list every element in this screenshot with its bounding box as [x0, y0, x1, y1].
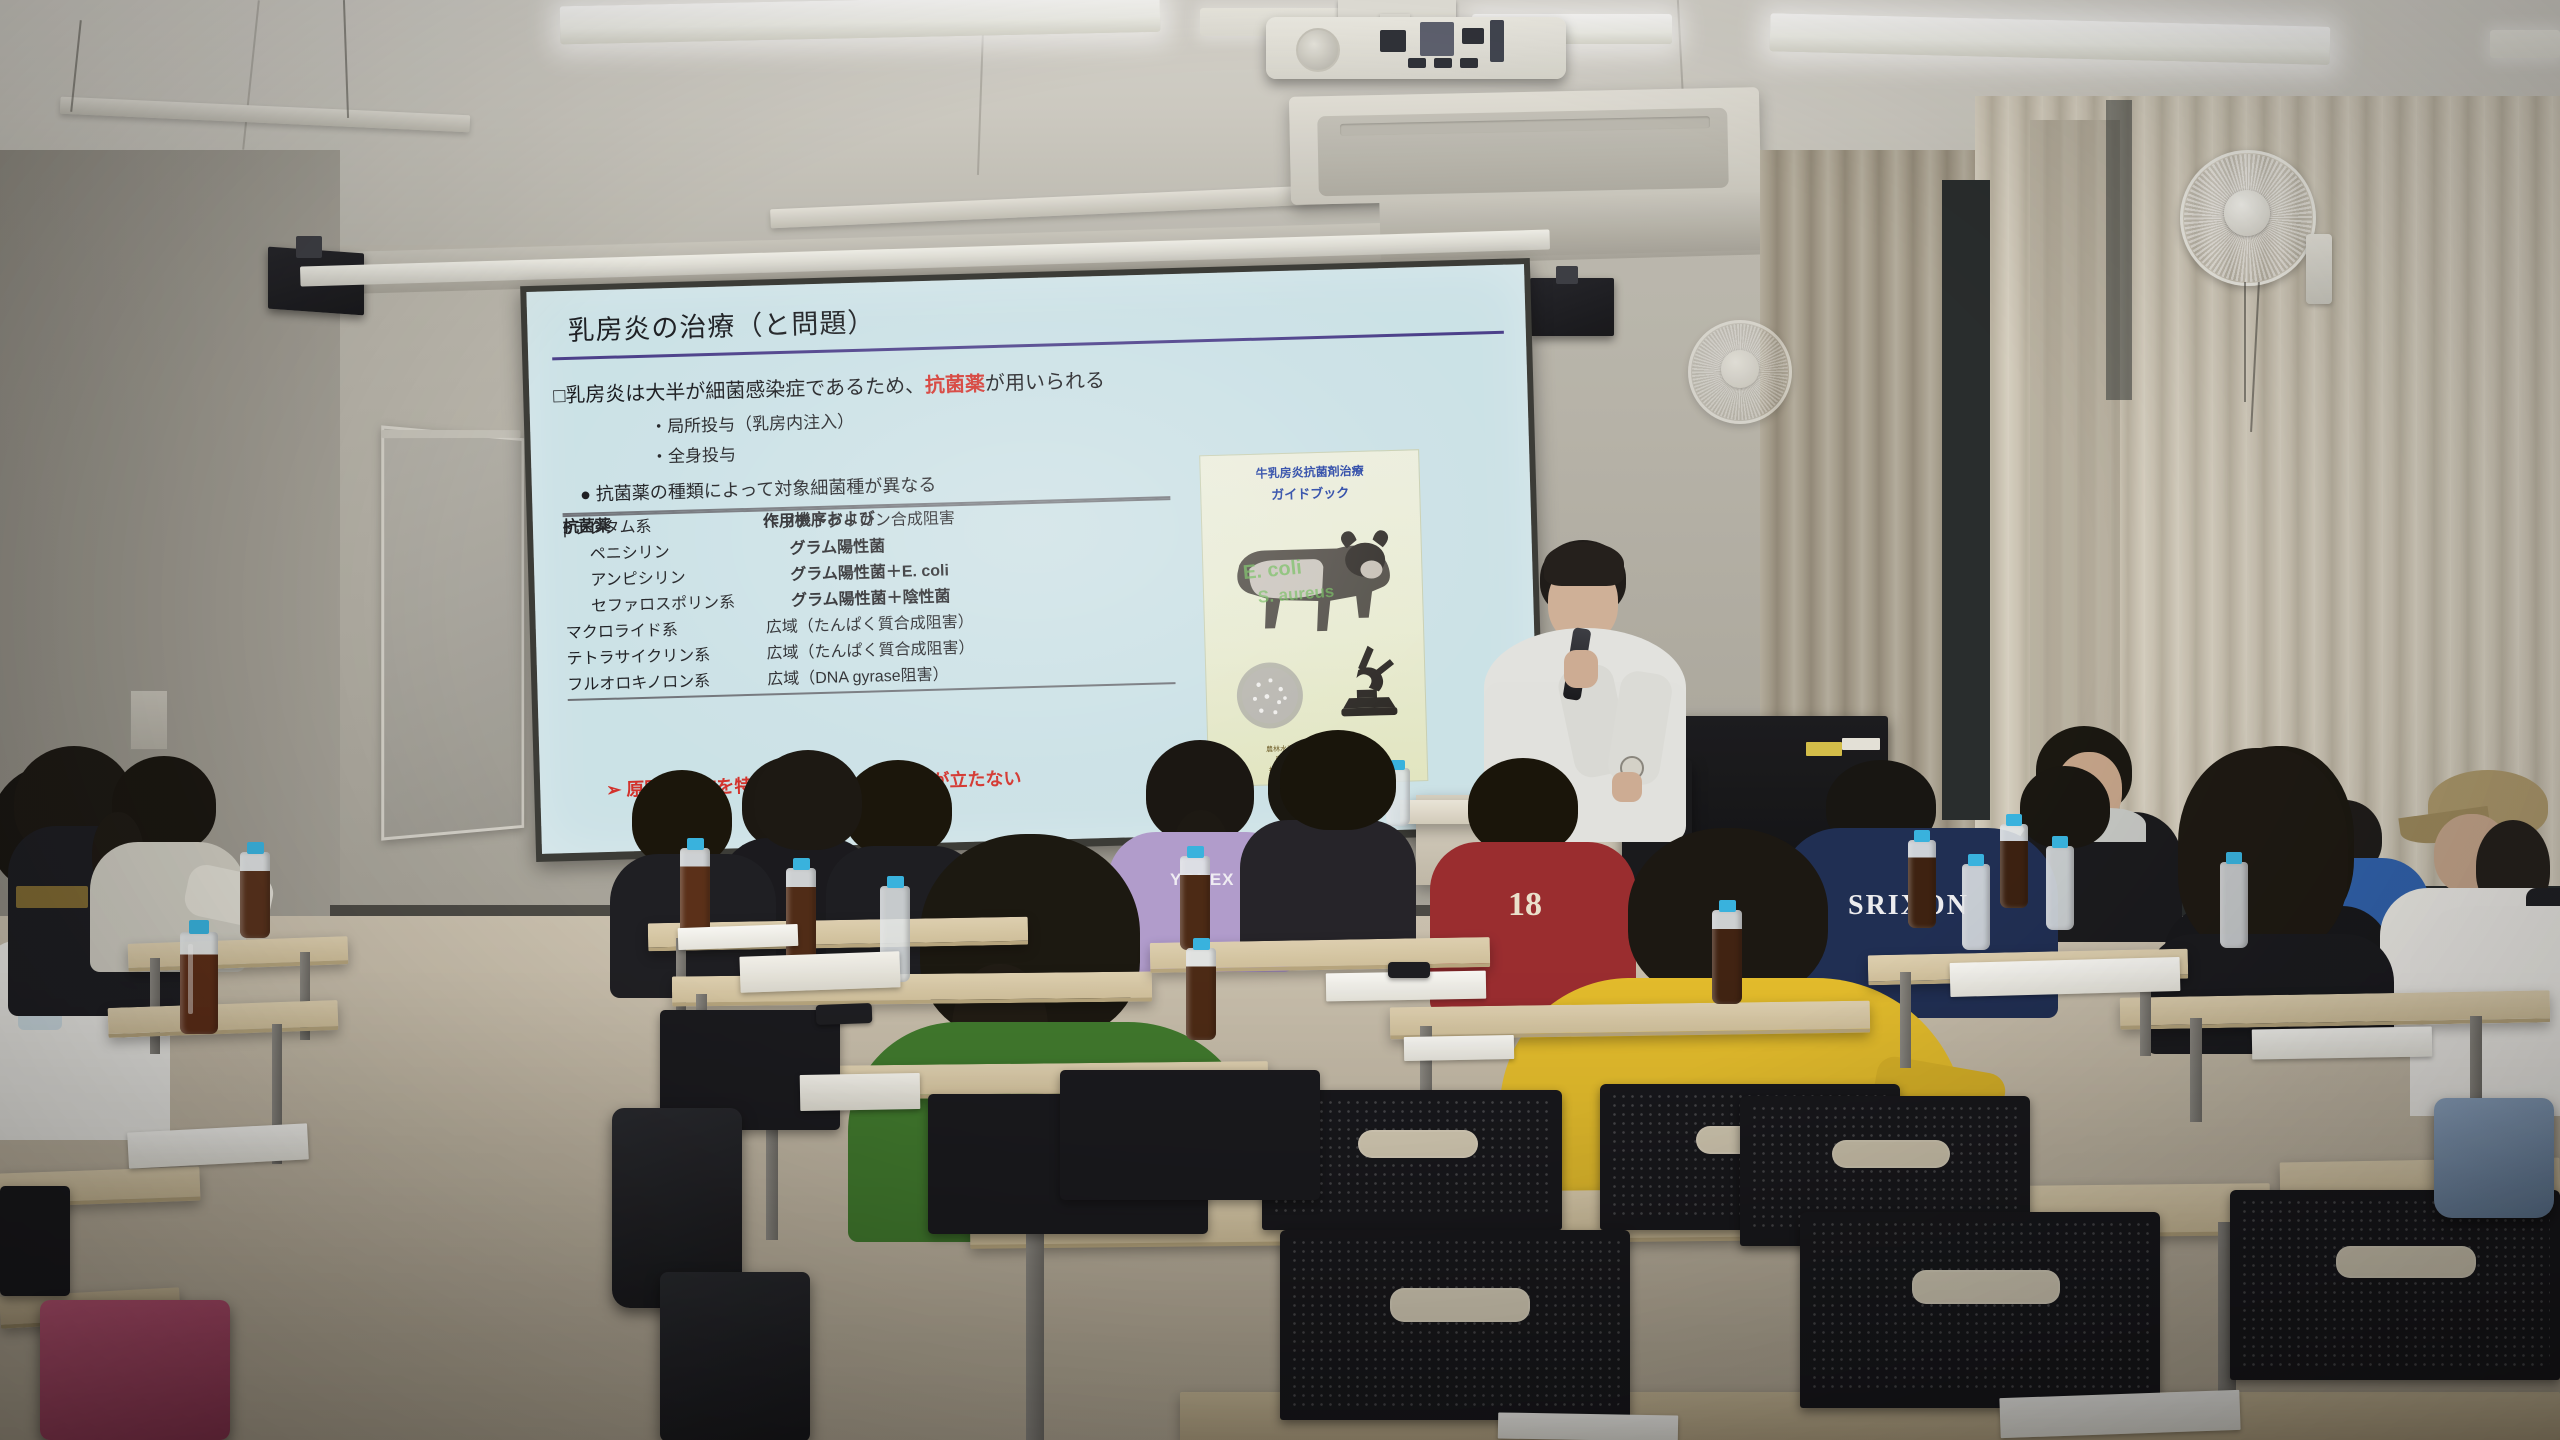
chair[interactable]	[1800, 1212, 2160, 1408]
projector-cable	[1490, 20, 1504, 62]
projector-port	[1420, 22, 1454, 56]
projector-lens	[1296, 28, 1340, 72]
bottle-body	[180, 932, 218, 1034]
microscope-svg	[1329, 641, 1406, 735]
fan-hub	[2224, 190, 2270, 236]
slide-subbullet-1: ・局所投与（乳房内注入）	[650, 407, 855, 438]
lecturer-hand	[1564, 650, 1598, 688]
bottle-cap	[793, 858, 810, 870]
bottle-cap	[189, 920, 209, 934]
tote-bag[interactable]	[660, 1272, 810, 1440]
bottle-body	[2000, 824, 2028, 908]
lecture-hall-photo: 乳房炎の治療（と問題） □乳房炎は大半が細菌感染症であるため、抗菌薬が用いられる…	[0, 0, 2560, 1440]
window-glass	[2106, 100, 2132, 400]
chair-handle-slot	[1358, 1130, 1478, 1158]
bottle-cap	[2226, 852, 2242, 864]
bottle-cap	[247, 842, 264, 854]
bottle-body	[1712, 910, 1742, 1004]
bullet-1-highlight: 抗菌薬	[925, 373, 986, 397]
projector-port	[1380, 30, 1406, 52]
petri-svg	[1234, 659, 1306, 731]
table-cell-action: グラム陽性菌＋陰性菌	[791, 589, 951, 609]
paper-sheet[interactable]	[678, 924, 799, 950]
bottle-body	[1180, 856, 1210, 950]
table-cell-drug: ペニシリン	[564, 542, 790, 564]
wall-fan-right[interactable]	[2180, 150, 2316, 286]
paper-sheet[interactable]	[1498, 1412, 1678, 1440]
table-header-drug: 抗菌薬	[563, 515, 763, 537]
whiteboard-tray	[381, 430, 520, 438]
chair[interactable]	[1280, 1230, 1630, 1420]
desk-leg	[2470, 1016, 2482, 1106]
bag[interactable]	[2434, 1098, 2554, 1218]
water-bottle[interactable]	[180, 932, 218, 1034]
bottle-highlight	[188, 944, 193, 1014]
slide-title: 乳房炎の治療（と問題）	[567, 300, 876, 348]
fan-control-box[interactable]	[2306, 234, 2332, 304]
chair[interactable]	[2230, 1190, 2560, 1380]
desk-leg	[1026, 1232, 1044, 1440]
water-bottle[interactable]	[1180, 856, 1210, 950]
smartphone[interactable]	[1388, 962, 1430, 978]
fan-hub	[1721, 350, 1759, 388]
slide-bullet-1: □乳房炎は大半が細菌感染症であるため、抗菌薬が用いられる	[553, 364, 1105, 408]
paper-sheet[interactable]	[1999, 1390, 2240, 1438]
wall-fan-left[interactable]	[1688, 320, 1792, 424]
smartphone[interactable]	[816, 1003, 873, 1025]
bullet-1-post: が用いられる	[985, 370, 1106, 395]
desk-leg	[1900, 972, 1911, 1068]
slide-bullet-2: ● 抗菌薬の種類によって対象細菌種が異なる	[580, 471, 937, 507]
chair-mesh	[1810, 1220, 2150, 1394]
chair-mesh	[1290, 1238, 1620, 1406]
hair	[2178, 748, 2348, 954]
paper-sheet[interactable]	[2252, 1026, 2432, 1059]
chair[interactable]	[0, 1186, 70, 1296]
guidebook-title-line1: 牛乳房炎抗菌剤治療	[1200, 460, 1418, 483]
bottle-cap	[1719, 900, 1736, 912]
projector-port	[1460, 58, 1478, 68]
open-notebook[interactable]	[800, 1073, 921, 1111]
table-cell-action: 広域（DNA gyrase阻害）	[767, 667, 949, 688]
bottle-body	[2220, 862, 2248, 948]
projector-port	[1434, 58, 1452, 68]
paper-sheet[interactable]	[1950, 957, 2181, 997]
fluorescent-light	[2490, 30, 2560, 58]
av-rack-label	[1806, 742, 1842, 756]
wall-control-panel[interactable]	[130, 690, 168, 750]
microscope-illustration	[1329, 641, 1406, 735]
water-bottle[interactable]	[1186, 948, 1216, 1040]
bottle-cap	[2006, 814, 2022, 826]
table-cell-drug: フルオロキノロン系	[567, 672, 767, 694]
speaker-bracket	[1556, 266, 1578, 284]
chair-handle-slot	[1912, 1270, 2060, 1304]
bottle-body	[2046, 846, 2074, 930]
bottle-body	[786, 868, 816, 964]
water-bottle[interactable]	[240, 852, 270, 938]
chair-handle-slot	[1390, 1288, 1530, 1322]
paper-sheet[interactable]	[1404, 1035, 1514, 1061]
bottle-cap	[1193, 938, 1210, 950]
table-cell-action: グラム陽性菌	[789, 539, 885, 558]
petri-dish-illustration	[1234, 659, 1306, 731]
bottle-cap	[2052, 836, 2068, 848]
bottle-body	[1186, 948, 1216, 1040]
water-bottle[interactable]	[1908, 840, 1936, 928]
water-bottle[interactable]	[2220, 862, 2248, 948]
water-bottle[interactable]	[786, 868, 816, 964]
hair	[1280, 730, 1396, 830]
water-bottle[interactable]	[2046, 846, 2074, 930]
guidebook-title-line2: ガイドブック	[1201, 480, 1419, 505]
desk	[1390, 1001, 1870, 1040]
table-cell-drug: セファロスポリン系	[565, 594, 791, 616]
chair-handle-slot	[2336, 1246, 2476, 1278]
av-rack-label	[1842, 738, 1880, 750]
wall-speaker-right	[1530, 278, 1614, 336]
bottle-cap	[687, 838, 704, 850]
table-cell-action: 広域（たんぱく質合成阻害）	[766, 615, 974, 637]
table-cell-action: グラム陽性菌＋E. coli	[790, 563, 949, 583]
water-bottle[interactable]	[1962, 864, 1990, 950]
bag[interactable]	[40, 1300, 230, 1440]
bottle-cap	[887, 876, 904, 888]
chair[interactable]	[1060, 1070, 1320, 1200]
bottle-body	[1908, 840, 1936, 928]
lecturer-hair-top	[1544, 542, 1624, 586]
table-cell-drug: マクロライド系	[566, 620, 766, 642]
bottle-body	[240, 852, 270, 938]
open-notebook[interactable]	[739, 951, 900, 993]
table-header-action: 作用機序および	[763, 511, 875, 530]
speaker-bracket	[296, 236, 322, 258]
fan-cord	[2244, 282, 2246, 402]
whiteboard	[381, 425, 524, 840]
bottle-cap	[1187, 846, 1204, 858]
water-bottle[interactable]	[1712, 910, 1742, 1004]
slide-subbullet-2: ・全身投与	[651, 440, 737, 467]
chair-handle-slot	[1832, 1140, 1950, 1168]
table-cell-action: 広域（たんぱく質合成阻害）	[766, 641, 974, 663]
antibiotic-table: 抗菌薬 作用機序および βラクタム系 ペプチドグリカン合成阻害 ペニシリン グラ…	[563, 496, 1176, 701]
table-cell-drug: テトラサイクリン系	[566, 646, 766, 668]
bottle-body	[1962, 864, 1990, 950]
table-cell-drug: アンピシリン	[564, 568, 790, 590]
window-glass	[1942, 180, 1990, 820]
projector-port	[1408, 58, 1426, 68]
projector-port	[1462, 28, 1484, 44]
chair-mesh	[2240, 1198, 2550, 1366]
desk-leg	[2190, 1018, 2202, 1122]
bottle-cap	[1968, 854, 1984, 866]
bullet-1-pre: □乳房炎は大半が細菌感染症であるため、	[553, 375, 925, 407]
bottle-cap	[1914, 830, 1930, 842]
water-bottle[interactable]	[2000, 824, 2028, 908]
